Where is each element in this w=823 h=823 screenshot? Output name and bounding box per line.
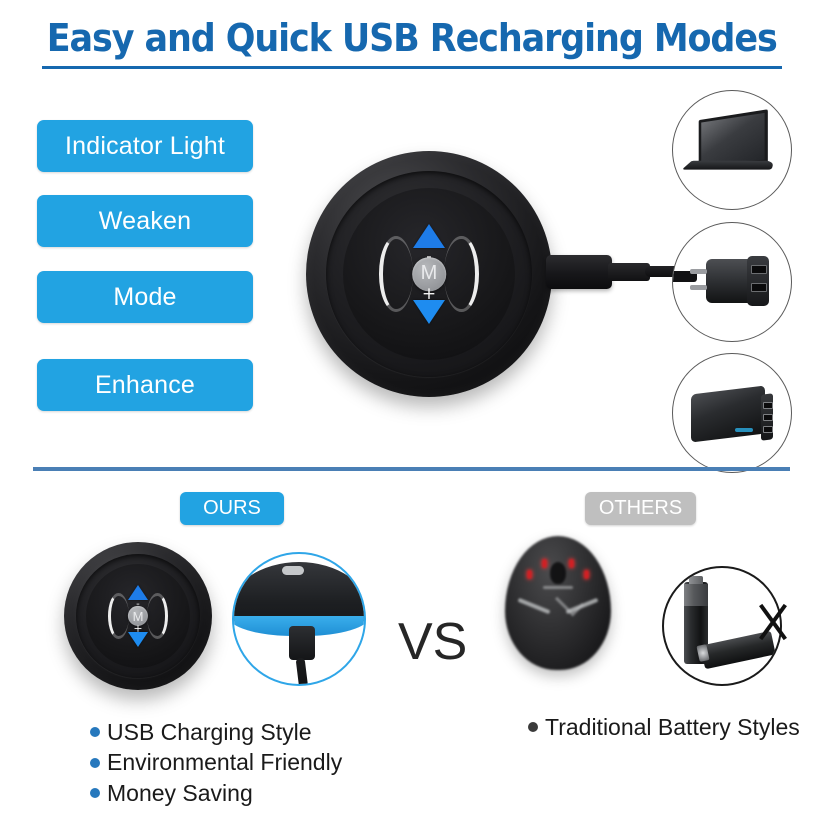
device-center-recess <box>550 562 566 584</box>
charger-port-face <box>747 256 769 306</box>
page-title: Easy and Quick USB Recharging Modes <box>47 16 777 63</box>
charger-usb-port <box>751 283 767 292</box>
title-underline <box>42 66 782 69</box>
badge-others: OTHERS <box>585 492 696 525</box>
charging-source-laptop <box>672 90 792 210</box>
led-indicator <box>569 559 574 568</box>
feature-label-enhance[interactable]: Enhance <box>37 359 253 411</box>
triangle-down-icon[interactable] <box>413 300 445 324</box>
usb-cable-connector <box>546 255 612 289</box>
device-wing <box>517 598 550 614</box>
list-item: USB Charging Style <box>90 717 342 747</box>
section-divider <box>33 467 790 471</box>
main-device-illustration: - M + <box>306 151 552 397</box>
bullet-dot-icon <box>90 727 100 737</box>
arc-right-icon <box>147 593 168 639</box>
bullet-dot-icon <box>90 788 100 798</box>
bullet-dot-icon <box>528 722 538 732</box>
triangle-up-icon[interactable] <box>413 224 445 248</box>
battery-positive-cap <box>689 576 703 584</box>
page-title-wrap: Easy and Quick USB Recharging Modes <box>0 16 823 63</box>
competitor-device-illustration <box>505 536 611 670</box>
feature-label-weaken[interactable]: Weaken <box>37 195 253 247</box>
charger-usb-port <box>751 265 767 274</box>
device-face: - M + <box>343 188 515 360</box>
bullet-dot-icon <box>90 758 100 768</box>
device-face: - M + <box>86 564 190 668</box>
list-item: Money Saving <box>90 778 342 808</box>
charging-source-power-bank <box>672 353 792 473</box>
charger-prong <box>690 269 707 274</box>
device-top-button <box>282 566 304 575</box>
list-item: Traditional Battery Styles <box>528 712 800 742</box>
usb-port-closeup-inset <box>232 552 366 686</box>
device-chevron <box>555 588 584 617</box>
triangle-up-icon <box>128 585 148 600</box>
list-item-label: Traditional Battery Styles <box>545 712 800 742</box>
led-indicator <box>542 559 547 568</box>
list-item-label: USB Charging Style <box>107 717 312 747</box>
feature-label-mode[interactable]: Mode <box>37 271 253 323</box>
list-item-label: Environmental Friendly <box>107 747 342 777</box>
arc-left-icon <box>379 236 413 312</box>
others-feature-list: Traditional Battery Styles <box>528 712 800 742</box>
badge-ours: OURS <box>180 492 284 525</box>
charger-prong <box>690 285 707 290</box>
infographic-page: Easy and Quick USB Recharging Modes Indi… <box>0 0 823 823</box>
battery-standing-label <box>684 584 708 606</box>
led-indicator <box>527 570 532 579</box>
ours-feature-list: USB Charging Style Environmental Friendl… <box>90 717 342 808</box>
arc-right-icon <box>444 236 478 312</box>
ours-device-illustration: - M + <box>64 542 212 690</box>
laptop-base <box>682 161 775 170</box>
feature-label-indicator-light[interactable]: Indicator Light <box>37 120 253 172</box>
list-item: Environmental Friendly <box>90 747 342 777</box>
power-bank-led <box>735 428 753 432</box>
charging-source-wall-charger <box>672 222 792 342</box>
led-indicator <box>584 570 589 579</box>
x-mark-icon <box>752 600 788 646</box>
power-bank-port <box>763 414 773 421</box>
usb-cable-segment <box>608 263 650 281</box>
laptop-icon <box>699 109 768 167</box>
arc-left-icon <box>108 593 129 639</box>
list-item-label: Money Saving <box>107 778 253 808</box>
versus-label: VS <box>398 612 467 672</box>
triangle-down-icon <box>128 632 148 647</box>
power-bank-icon <box>691 385 765 442</box>
usb-cord <box>296 658 310 686</box>
device-slit <box>543 586 573 589</box>
power-bank-port <box>763 426 773 433</box>
usb-plug-icon <box>289 626 315 660</box>
power-bank-port <box>763 402 773 409</box>
